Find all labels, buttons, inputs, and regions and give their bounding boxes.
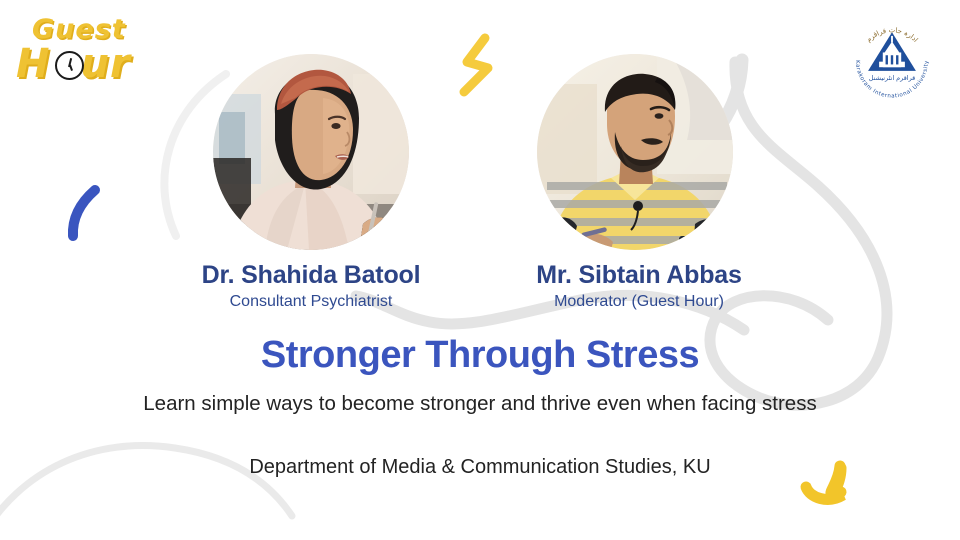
yellow-zigzag-shape xyxy=(464,38,488,92)
presentation-slide: Guest Hur ادارہ جاتِ قراقرم قراقرم انٹرن… xyxy=(0,0,960,540)
speaker-caption-left: Dr. Shahida Batool Consultant Psychiatri… xyxy=(161,262,461,313)
brand-line-guest: Guest xyxy=(32,16,126,43)
speaker-role-right: Moderator (Guest Hour) xyxy=(489,290,789,313)
clock-icon xyxy=(55,51,84,80)
speaker-caption-right: Mr. Sibtain Abbas Moderator (Guest Hour) xyxy=(489,262,789,313)
event-subtitle: Learn simple ways to become stronger and… xyxy=(0,391,960,417)
woman-in-headscarf-portrait xyxy=(213,54,409,250)
university-crest-logo: ادارہ جاتِ قراقرم قراقرم انٹرنیشنل Karak… xyxy=(846,12,938,104)
event-title: Stronger Through Stress xyxy=(0,336,960,376)
speaker-name-right: Mr. Sibtain Abbas xyxy=(489,262,789,290)
speaker-photo-right xyxy=(537,54,733,250)
crest-urdu-text: قراقرم انٹرنیشنل xyxy=(869,74,915,82)
guest-hour-logo: Guest Hur xyxy=(14,16,184,92)
organizer-department: Department of Media & Communication Stud… xyxy=(0,455,960,480)
blue-comma-arc-shape xyxy=(73,190,95,236)
speaker-name-left: Dr. Shahida Batool xyxy=(161,262,461,290)
brand-letters-ur: ur xyxy=(80,41,130,87)
speaker-role-left: Consultant Psychiatrist xyxy=(161,290,461,313)
speaker-photo-left xyxy=(213,54,409,250)
bearded-man-striped-polo-portrait xyxy=(537,54,733,250)
brand-letter-h: H xyxy=(16,41,50,87)
